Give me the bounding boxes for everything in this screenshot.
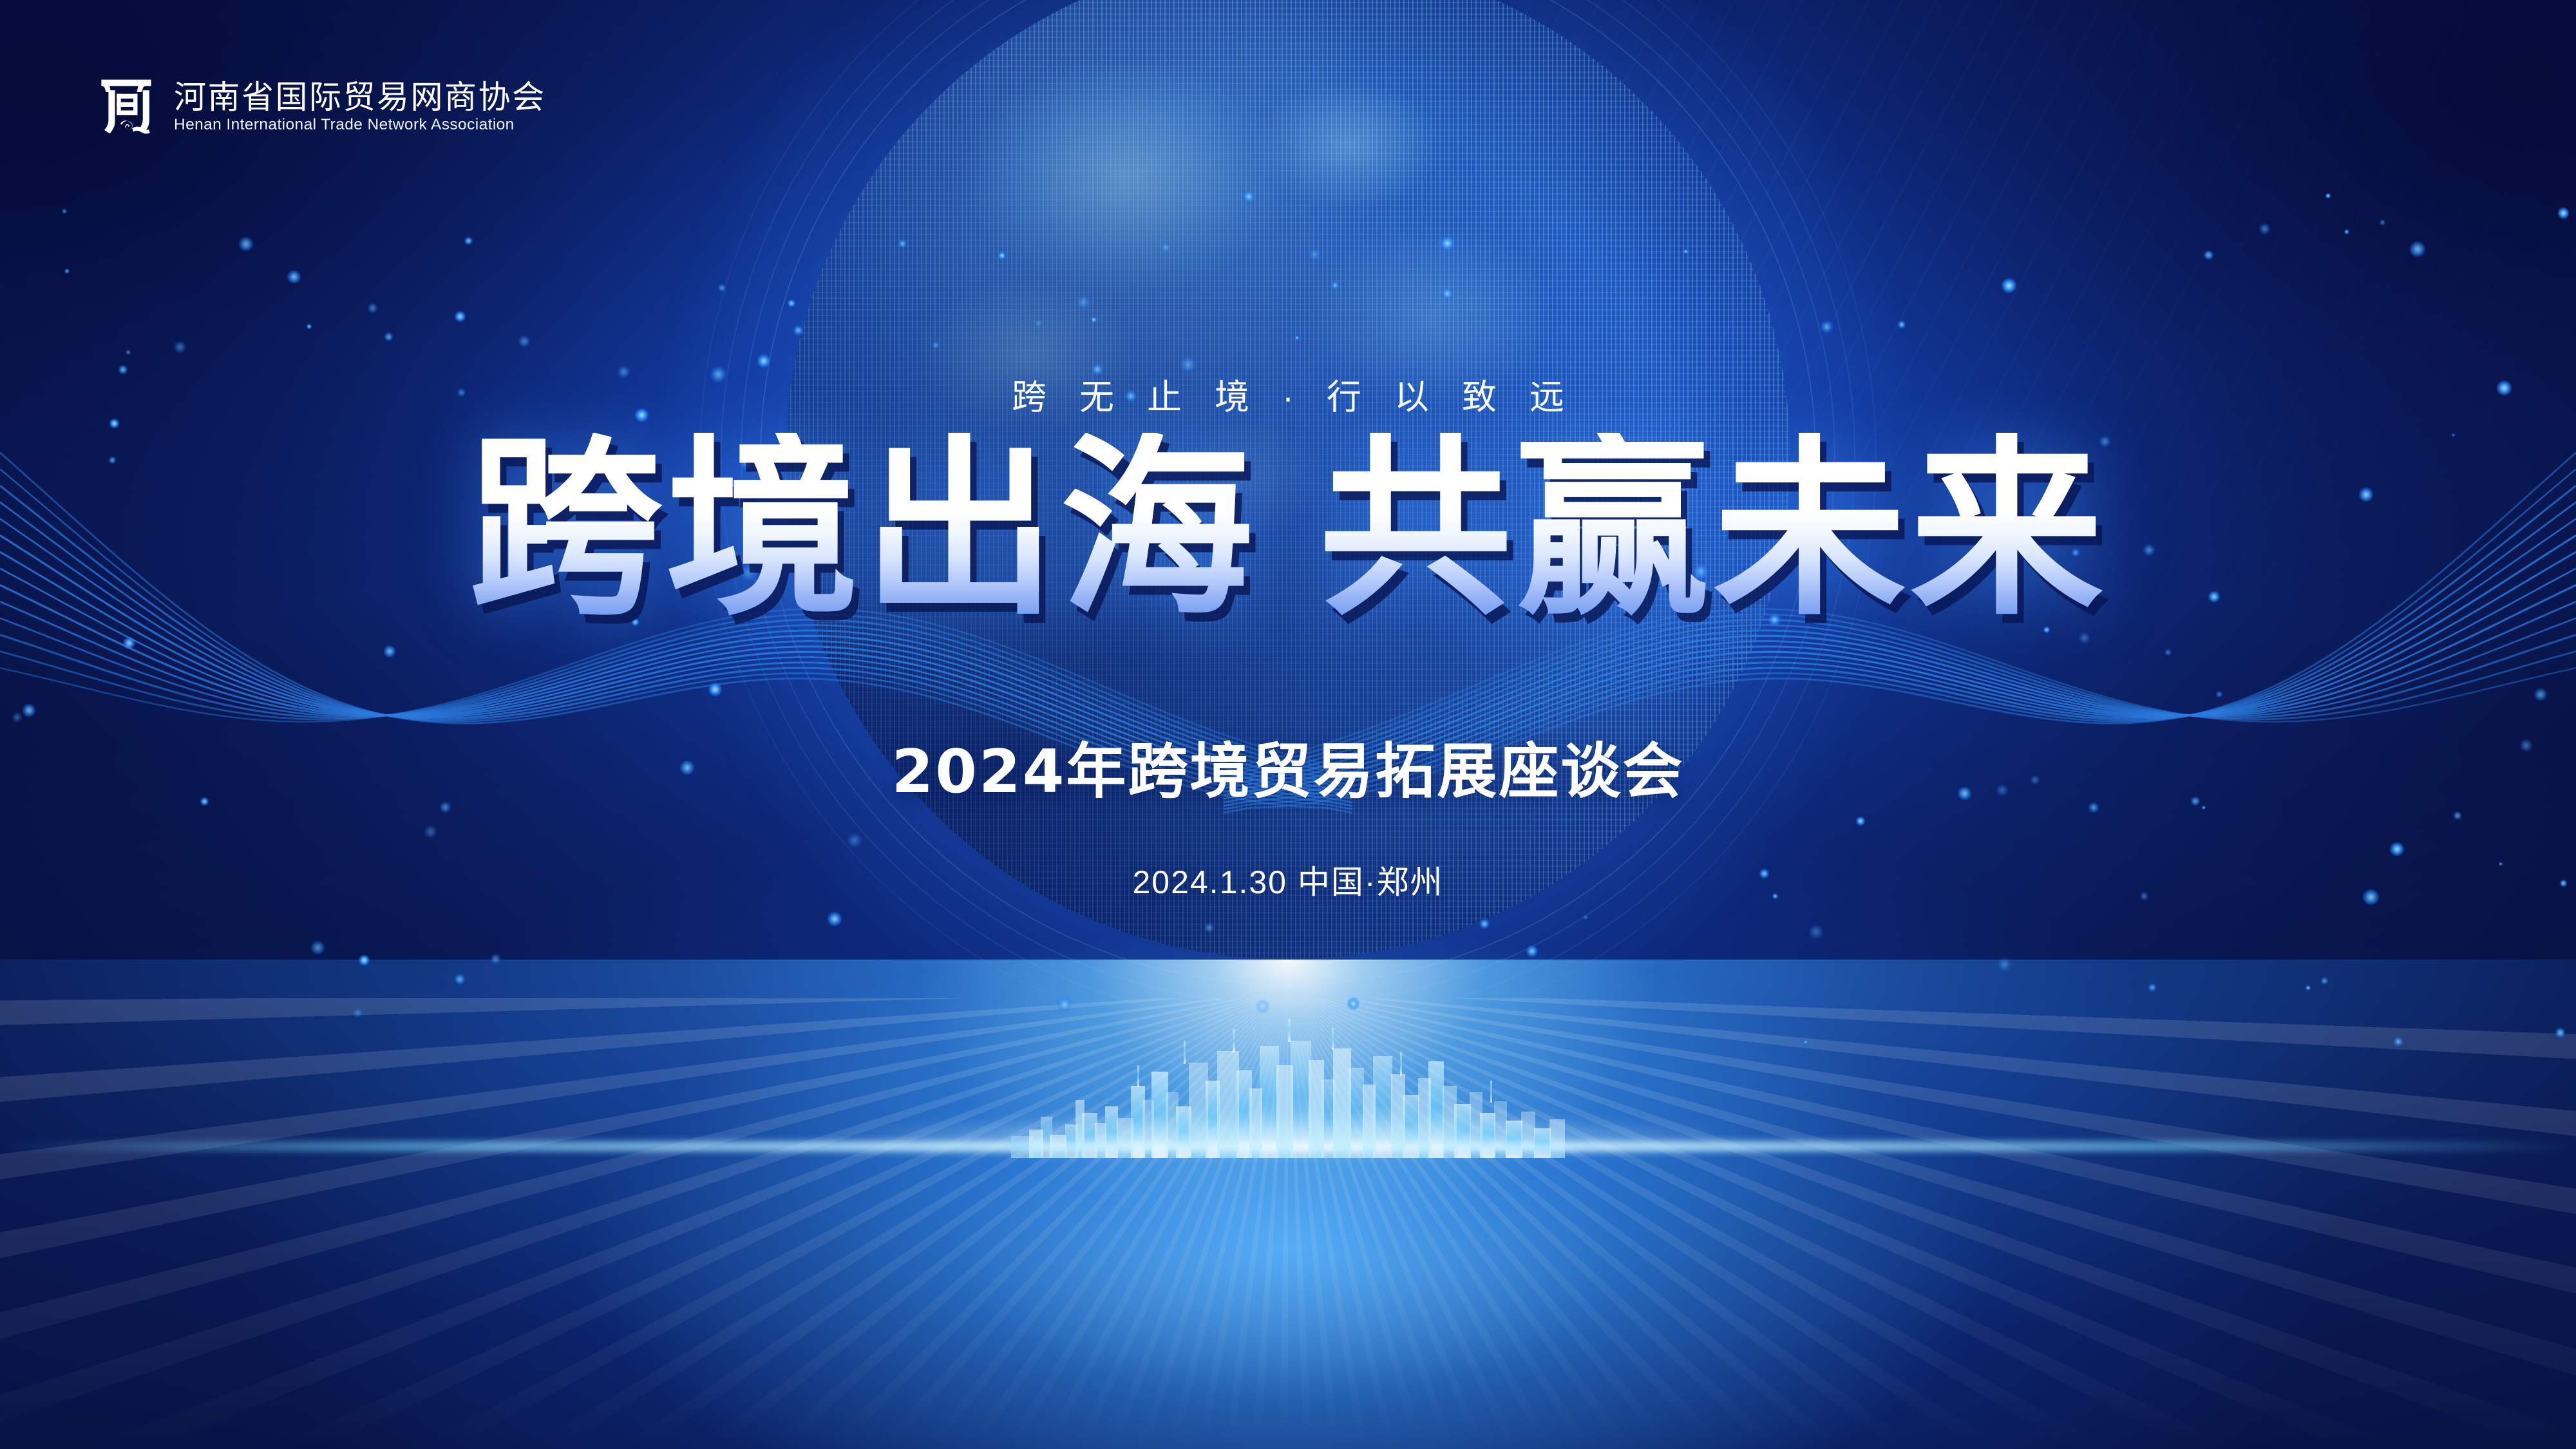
- particle-dot: [424, 826, 437, 838]
- particle-dot: [2344, 229, 2349, 234]
- particle-dot: [384, 645, 396, 658]
- particle-dot: [126, 350, 131, 355]
- logo-text-block: 河南省国际贸易网商协会 Henan International Trade Ne…: [174, 81, 546, 133]
- particle-dot: [1809, 925, 1823, 939]
- particle-dot: [2558, 207, 2569, 218]
- association-name-cn: 河南省国际贸易网商协会: [174, 81, 546, 113]
- particle-dot: [2380, 220, 2385, 225]
- particle-dot: [174, 341, 185, 353]
- particle-dot: [2325, 193, 2330, 198]
- particle-dot: [2534, 688, 2546, 701]
- particle-dot: [287, 270, 301, 284]
- particle-dot: [368, 303, 377, 313]
- poster-canvas: 河南省国际贸易网商协会 Henan International Trade Ne…: [0, 0, 2576, 1449]
- particle-dot: [1856, 817, 1865, 826]
- particle-dot: [2088, 802, 2099, 813]
- particle-dot: [440, 802, 451, 813]
- particle-dot: [2499, 862, 2503, 866]
- poster-subtitle: 2024年跨境贸易拓展座谈会: [0, 742, 2576, 802]
- particle-dot: [464, 237, 472, 245]
- particle-dot: [23, 704, 35, 717]
- poster-tagline: 跨 无 止 境 · 行 以 致 远: [0, 368, 2576, 419]
- particle-dot: [384, 332, 393, 341]
- particle-dot: [2002, 278, 2016, 293]
- seal-script-logo-icon: [97, 76, 156, 138]
- particle-dot: [307, 324, 312, 329]
- particle-dot: [2454, 811, 2462, 820]
- particle-dot: [239, 237, 253, 251]
- headline-right: 共赢未来: [1319, 433, 2107, 626]
- particle-dot: [64, 269, 70, 274]
- particle-dot: [12, 712, 22, 722]
- city-skyline-icon: [1011, 1003, 1565, 1158]
- particle-dot: [455, 311, 466, 322]
- particle-dot: [2204, 251, 2213, 260]
- particle-dot: [2410, 241, 2425, 257]
- headline-left: 跨境出海: [469, 433, 1257, 626]
- particle-dot: [2202, 806, 2206, 810]
- particle-dot: [311, 941, 325, 954]
- association-name-en: Henan International Trade Network Associ…: [174, 117, 546, 133]
- particle-dot: [518, 336, 530, 347]
- particle-dot: [2164, 649, 2172, 656]
- particle-dot: [2259, 223, 2270, 234]
- particle-dot: [109, 419, 119, 428]
- poster-dateline: 2024.1.30 中国·郑州: [0, 866, 2576, 898]
- particle-dot: [2216, 691, 2223, 698]
- particle-dot: [62, 209, 67, 214]
- poster-headline: 跨境出海共赢未来: [0, 433, 2576, 626]
- association-logo[interactable]: 河南省国际贸易网商协会 Henan International Trade Ne…: [97, 76, 546, 138]
- particle-dot: [123, 637, 135, 649]
- particle-dot: [2390, 842, 2404, 857]
